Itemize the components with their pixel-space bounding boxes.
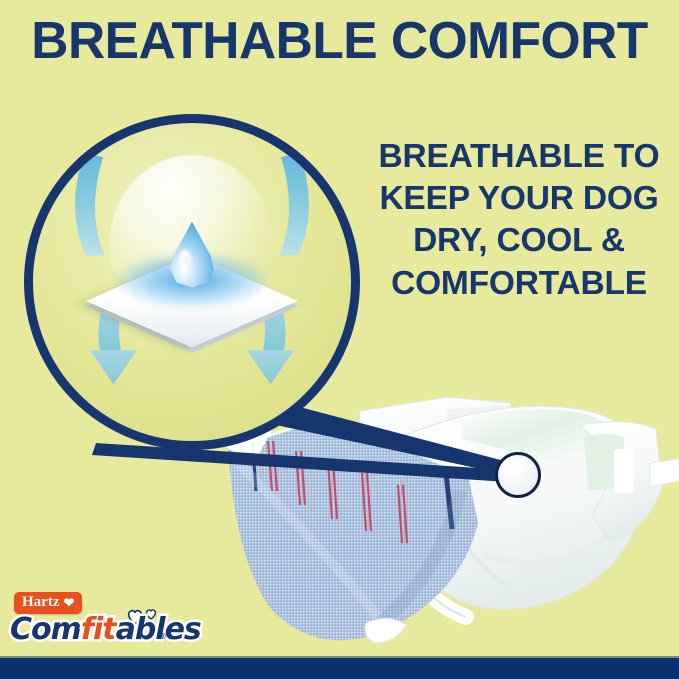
magnifier-target-circle [495,452,541,498]
comfitables-text: Comfitables [10,612,201,647]
airflow-arrow-down-right-icon [279,153,309,255]
brand-logo: Hartz ❤ Comfitables ® [8,592,188,654]
droplet-highlight [179,250,192,272]
magnifier-lens-icon [24,114,360,450]
breathability-diagram [24,114,360,450]
bottom-navy-band [0,658,679,679]
hartz-wordmark: Hartz [22,595,59,610]
airflow-arrow-down-left-icon [75,153,105,255]
wordmark-accent: fit [81,612,116,647]
marketing-image-canvas: BREATHABLE COMFORT BREATHABLE TO KEEP YO… [0,0,679,679]
wordmark-suffix: ables [116,612,201,647]
wordmark-prefix: Com [10,612,81,647]
comfitables-wordmark: Comfitables ® [8,610,188,654]
heart-icon: ❤ [63,596,74,609]
registered-trademark-mark: ® [160,632,166,641]
